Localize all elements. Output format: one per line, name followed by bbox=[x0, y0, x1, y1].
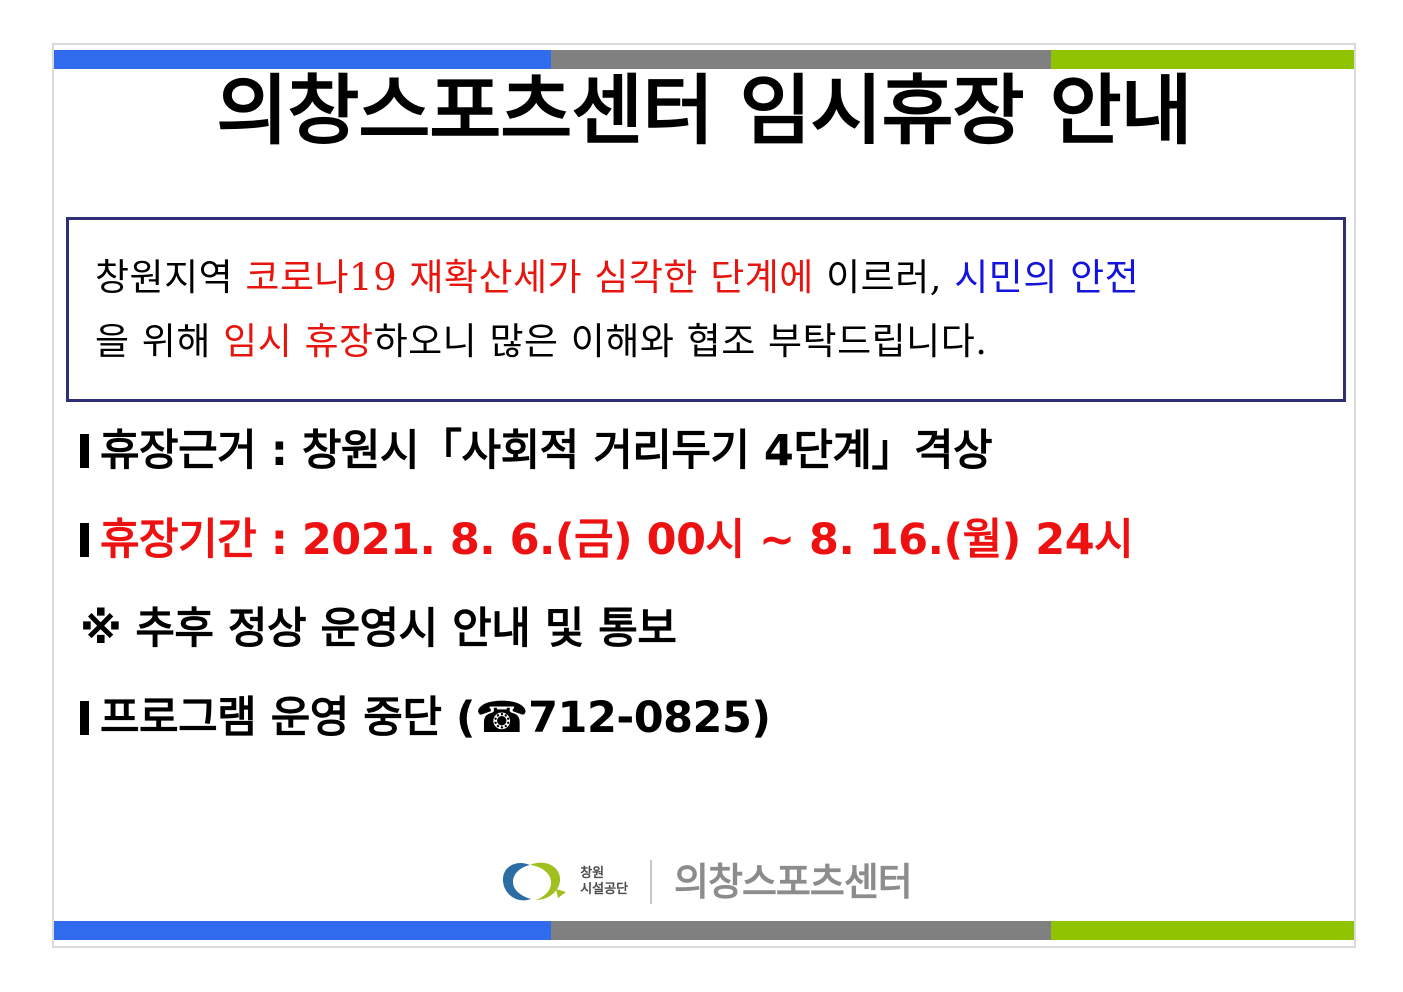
detail-program-prefix: 프로그램 운영 중단 ( bbox=[100, 693, 475, 743]
notice-text-red-2: 임시 휴장 bbox=[223, 320, 373, 363]
organization-name-line2: 시설공단 bbox=[580, 882, 628, 898]
notice-line-2: 을 위해 임시 휴장하오니 많은 이해와 협조 부탁드립니다. bbox=[95, 310, 1321, 374]
footer-logo: 창원 시설공단 의창스포츠센터 bbox=[54, 856, 1354, 908]
notice-text-black-2: 이르러, bbox=[814, 256, 954, 299]
color-bar-segment-green bbox=[1051, 921, 1354, 940]
detail-basis-text: 휴장근거 : 창원시「사회적 거리두기 4단계」격상 bbox=[100, 426, 992, 476]
organization-name-line1: 창원 bbox=[580, 866, 628, 882]
notice-text-black-3: 을 위해 bbox=[95, 320, 223, 363]
detail-note-text: 추후 정상 운영시 안내 및 통보 bbox=[135, 604, 676, 654]
detail-list: 휴장근거 : 창원시「사회적 거리두기 4단계」격상 휴장기간 : 2021. … bbox=[80, 430, 1340, 786]
telephone-icon: ☎ bbox=[475, 693, 528, 743]
notice-text-black-1: 창원지역 bbox=[95, 256, 245, 299]
organization-name: 창원 시설공단 bbox=[580, 866, 628, 899]
detail-item-program: 프로그램 운영 중단 (☎712-0825) bbox=[80, 697, 1340, 740]
detail-item-note: ※추후 정상 운영시 안내 및 통보 bbox=[80, 608, 1340, 651]
color-bar-segment-blue bbox=[54, 921, 551, 940]
bullet-icon bbox=[80, 701, 89, 735]
detail-period-text: 휴장기간 : 2021. 8. 6.(금) 00시 ~ 8. 16.(월) 24… bbox=[100, 515, 1133, 565]
logo-divider bbox=[650, 860, 652, 904]
reference-mark-icon: ※ bbox=[80, 604, 121, 654]
notice-line-1: 창원지역 코로나19 재확산세가 심각한 단계에 이르러, 시민의 안전 bbox=[95, 246, 1321, 310]
notice-text-blue-1: 시민의 안전 bbox=[954, 256, 1139, 299]
center-name-label: 의창스포츠센터 bbox=[674, 863, 912, 901]
notice-text-red-1: 코로나19 재확산세가 심각한 단계에 bbox=[245, 256, 813, 299]
detail-item-basis: 휴장근거 : 창원시「사회적 거리두기 4단계」격상 bbox=[80, 430, 1340, 473]
changwon-facilities-logo-icon bbox=[496, 856, 574, 908]
color-bar-segment-gray bbox=[551, 921, 1052, 940]
bullet-icon bbox=[80, 434, 89, 468]
page-title: 의창스포츠센터 임시휴장 안내 bbox=[35, 73, 1374, 149]
detail-item-period: 휴장기간 : 2021. 8. 6.(금) 00시 ~ 8. 16.(월) 24… bbox=[80, 519, 1340, 562]
notice-page: 의창스포츠센터 임시휴장 안내 창원지역 코로나19 재확산세가 심각한 단계에… bbox=[52, 43, 1356, 948]
detail-program-suffix: ) bbox=[751, 693, 770, 743]
notice-text-black-4: 하오니 많은 이해와 협조 부탁드립니다. bbox=[374, 320, 988, 363]
detail-telephone-number: 712-0825 bbox=[528, 693, 751, 743]
notice-message-box: 창원지역 코로나19 재확산세가 심각한 단계에 이르러, 시민의 안전 을 위… bbox=[66, 217, 1346, 402]
bullet-icon bbox=[80, 523, 89, 557]
bottom-color-bar bbox=[54, 921, 1354, 940]
